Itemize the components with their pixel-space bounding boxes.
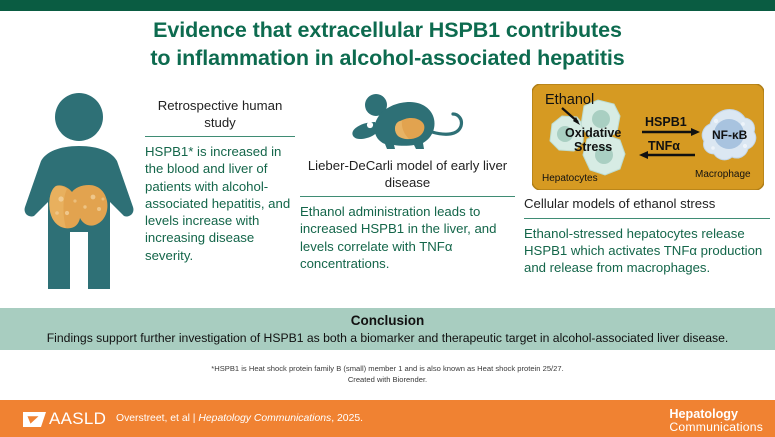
footer-journal-name: Hepatology Communications (669, 407, 763, 435)
cellular-models-divider (524, 218, 770, 219)
footnote-line-1: *HSPB1 is Heat shock protein family B (s… (0, 363, 775, 374)
ethanol-label: Ethanol (545, 92, 594, 108)
tnfa-arrow-label: TNFα (648, 139, 680, 153)
aasld-logo-mark (22, 410, 47, 429)
cellular-models-text-block: Cellular models of ethanol stress Ethano… (524, 196, 770, 276)
citation-year: , 2025. (331, 413, 363, 424)
top-accent-bar (0, 0, 775, 11)
journal-line-1: Hepatology (669, 407, 763, 421)
citation-authors: Overstreet, et al | (116, 413, 198, 424)
panel-row: Retrospective human study HSPB1* is incr… (0, 84, 775, 299)
hepatocytes-label: Hepatocytes (542, 173, 598, 184)
oxidative-stress-label-line2: Stress (574, 140, 612, 154)
mouse-model-divider (300, 196, 515, 197)
mouse-with-liver-icon (340, 92, 475, 154)
nfkb-label: NF-κB (712, 128, 748, 142)
citation-journal: Hepatology Communications (198, 413, 331, 424)
title-line-1: Evidence that extracellular HSPB1 contri… (0, 16, 775, 44)
hspb1-arrow-label: HSPB1 (645, 115, 687, 129)
journal-line-2: Communications (669, 421, 763, 435)
conclusion-band: Conclusion Findings support further inve… (0, 308, 775, 350)
aasld-logo: AASLD (22, 409, 106, 429)
mouse-model-body: Ethanol administration leads to increase… (300, 203, 515, 272)
oxidative-stress-label-line1: Oxidative (565, 126, 621, 140)
page-title: Evidence that extracellular HSPB1 contri… (0, 16, 775, 73)
panel-human-study: Retrospective human study HSPB1* is incr… (10, 84, 295, 299)
footer-bar: AASLD Overstreet, et al | Hepatology Com… (0, 400, 775, 437)
mouse-model-text-block: Lieber-DeCarli model of early liver dise… (300, 158, 515, 272)
human-study-body: HSPB1* is increased in the blood and liv… (145, 143, 295, 264)
cellular-models-heading: Cellular models of ethanol stress (524, 196, 770, 213)
liver-shape (49, 185, 107, 228)
mouse-model-heading: Lieber-DeCarli model of early liver dise… (300, 158, 515, 191)
footnote: *HSPB1 is Heat shock protein family B (s… (0, 363, 775, 385)
macrophage-label: Macrophage (695, 169, 751, 180)
footnote-line-2: Created with Biorender. (0, 374, 775, 385)
human-body-with-liver-icon (15, 89, 143, 294)
conclusion-text: Findings support further investigation o… (0, 330, 775, 346)
graphical-abstract-poster: Evidence that extracellular HSPB1 contri… (0, 0, 775, 437)
panel-cellular-models: Ethanol Oxidative Stress Hepatocytes HSP… (524, 84, 770, 299)
hepatocyte-macrophage-diagram: Ethanol Oxidative Stress Hepatocytes HSP… (532, 84, 764, 190)
cellular-models-body: Ethanol-stressed hepatocytes release HSP… (524, 225, 770, 277)
footer-citation: Overstreet, et al | Hepatology Communica… (116, 413, 363, 424)
human-study-text-block: Retrospective human study HSPB1* is incr… (145, 98, 295, 264)
human-study-heading: Retrospective human study (145, 98, 295, 131)
title-line-2: to inflammation in alcohol-associated he… (0, 44, 775, 72)
aasld-logo-text: AASLD (49, 409, 106, 429)
conclusion-title: Conclusion (0, 312, 775, 330)
panel-mouse-model: Lieber-DeCarli model of early liver dise… (300, 84, 515, 299)
human-study-divider (145, 136, 295, 137)
